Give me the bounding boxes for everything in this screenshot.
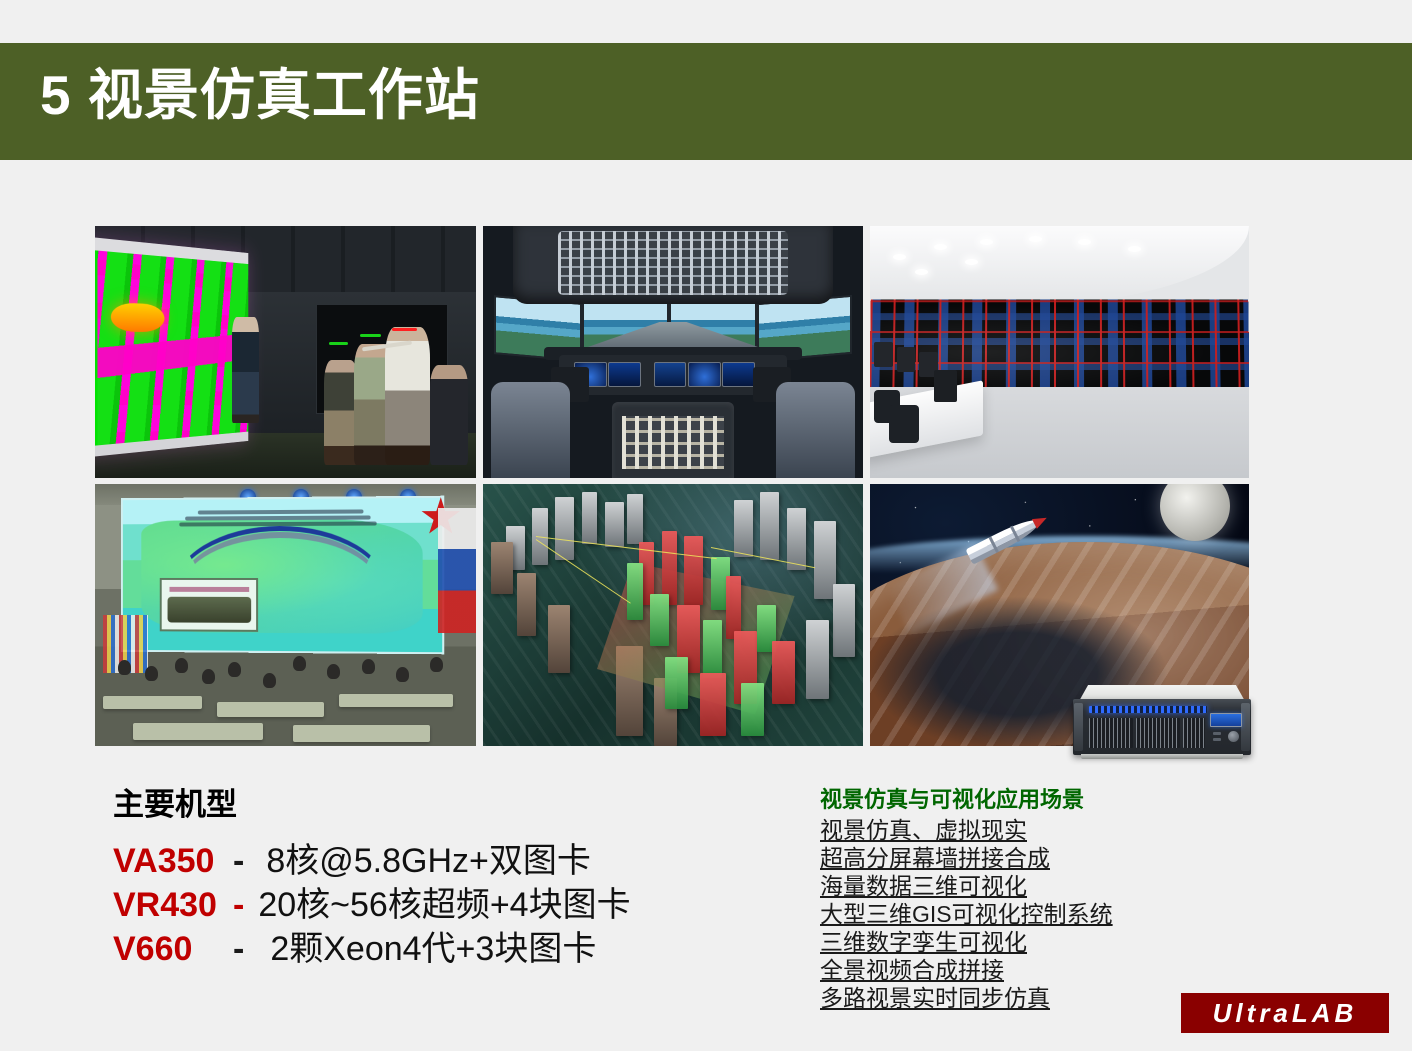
usb-port [1213,738,1221,741]
photo-content [870,226,1249,478]
scenario-item: 全景视频合成拼接 [820,956,1004,984]
photo-command-center-briefing [95,484,476,746]
reset-button [1213,732,1221,735]
model-spec: 20核~56核超频+4块图卡 [258,877,630,926]
scenarios-heading: 视景仿真与可视化应用场景 [820,786,1113,814]
scenario-item: 视景仿真、虚拟现实 [820,816,1027,844]
photo-flight-simulator-cockpit [483,226,863,478]
photo-3d-cad-review-room [95,226,476,478]
model-row: VR430 - 20核~56核超频+4块图卡 [113,877,631,921]
photo-content [95,226,476,478]
model-name: VA350 [113,842,233,881]
led-strip [1089,706,1207,713]
gallery-row-1 [95,226,1249,478]
rackmount-workstation-image [1073,685,1251,759]
model-name: VR430 [113,886,233,925]
photo-rocket-over-earth [870,484,1249,746]
models-heading: 主要机型 [113,779,237,824]
scenario-item: 超高分屏幕墙拼接合成 [820,844,1050,872]
model-spec: 8核@5.8GHz+双图卡 [266,833,591,882]
model-row: VA350 - 8核@5.8GHz+双图卡 [113,833,631,877]
photo-content [483,226,863,478]
scenario-item: 多路视景实时同步仿真 [820,984,1050,1012]
model-dash: - [233,842,244,881]
scenario-item: 大型三维GIS可视化控制系统 [820,900,1113,928]
gallery-row-2 [95,484,1249,746]
power-button [1228,731,1239,742]
model-row: V660 - 2颗Xeon4代+3块图卡 [113,921,631,965]
model-name: V660 [113,930,233,969]
scenario-item: 海量数据三维可视化 [820,872,1027,900]
model-dash: - [233,886,244,925]
model-spec: 2颗Xeon4代+3块图卡 [270,921,596,970]
photo-curved-video-wall-control-room [870,226,1249,478]
model-dash: - [233,930,244,969]
scenarios-block: 视景仿真与可视化应用场景 视景仿真、虚拟现实 超高分屏幕墙拼接合成 海量数据三维… [820,786,1113,1012]
image-gallery [95,226,1249,746]
page-title: 5 视景仿真工作站 [40,68,480,123]
logo-text: UltraLAB [1213,998,1358,1029]
photo-3d-gis-city-model [483,484,863,746]
scenario-item: 三维数字孪生可视化 [820,928,1027,956]
ultralab-logo: UltraLAB [1181,993,1389,1033]
photo-content [483,484,863,746]
lcd-display [1210,713,1242,727]
models-list: VA350 - 8核@5.8GHz+双图卡 VR430 - 20核~56核超频+… [113,833,631,965]
photo-content [95,484,476,746]
